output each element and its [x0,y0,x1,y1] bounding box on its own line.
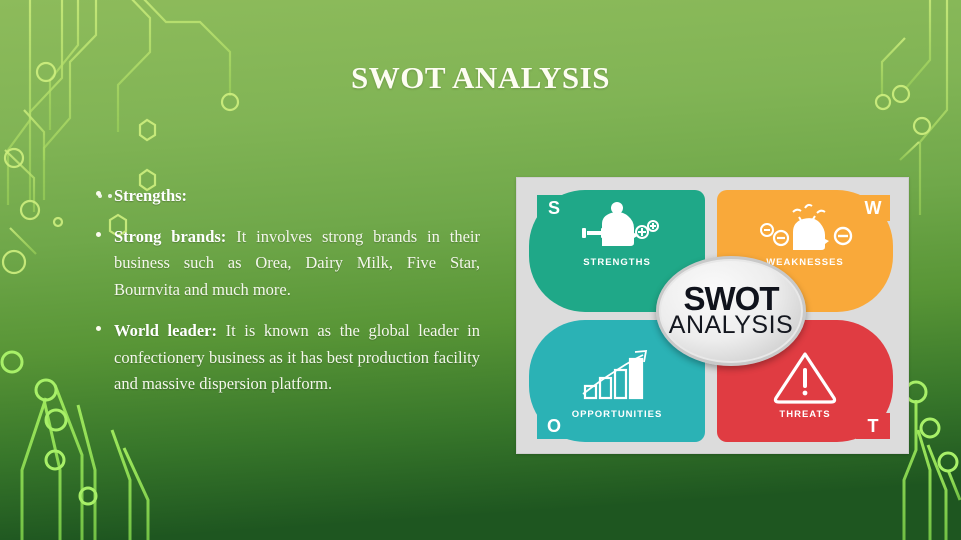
bullet-dot-icon [96,326,101,331]
swot-diagram-image: STRENGTHS WEAKNESSES [516,177,909,454]
swot-center-subtitle: ANALYSIS [669,313,793,338]
list-item: Strengths: [92,183,480,210]
list-item-lead: World leader: [114,321,217,340]
swot-corner-letter-t: T [856,413,890,439]
swot-quadrant-label: STRENGTHS [529,257,705,268]
swot-center-badge: SWOT ANALYSIS [656,256,806,366]
bottom-left-stem-nodes-icon [2,352,96,504]
bullet-list: Strengths: Strong brands: It involves st… [92,183,480,398]
bullet-dot-icon [96,191,101,196]
list-item-lead: Strengths: [114,186,187,205]
bullet-dot-icon [96,232,101,237]
slide-canvas: SWOT ANALYSIS Strengths: Strong brands: … [0,0,961,540]
bottom-right-stems-icon [900,400,960,540]
swot-corner-letter-o: O [537,413,571,439]
bottom-right-stem-nodes-icon [906,382,957,471]
growth-bar-chart-arrow-icon [529,348,705,406]
swot-corner-letter-s: S [537,195,571,221]
list-item-lead: Strong brands: [114,227,226,246]
page-title: SWOT ANALYSIS [0,60,961,96]
swot-corner-letter-w: W [856,195,890,221]
list-item: World leader: It is known as the global … [92,318,480,398]
list-item: Strong brands: It involves strong brands… [92,224,480,304]
